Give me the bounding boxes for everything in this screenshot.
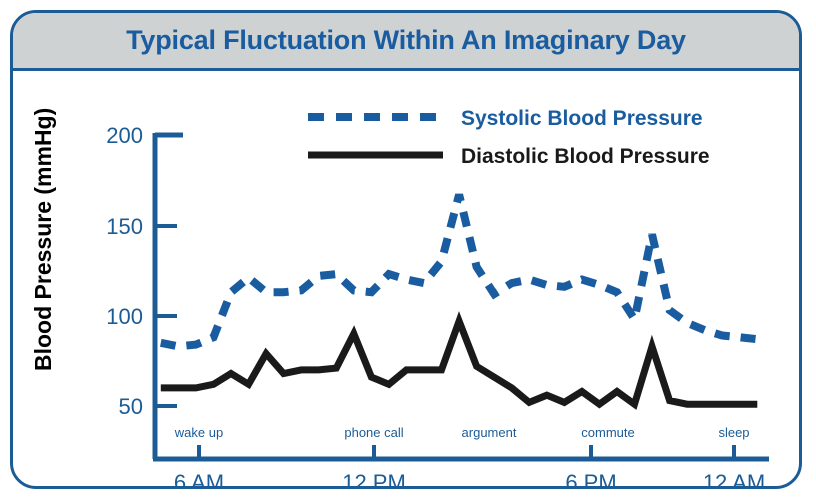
x-axis-ticks: 6 AM 12 PM 6 PM 12 AM: [174, 445, 765, 489]
series-group: [161, 195, 758, 405]
y-tick-label-100: 100: [106, 304, 143, 329]
x-tick-label-12am: 12 AM: [703, 470, 765, 489]
legend-label-diastolic: Diastolic Blood Pressure: [461, 145, 710, 168]
x-tick-label-12pm: 12 PM: [342, 470, 406, 489]
legend-item-systolic: Systolic Blood Pressure: [308, 107, 703, 130]
y-tick-label-200: 200: [106, 123, 143, 148]
annotation-phone-call: phone call: [344, 425, 403, 440]
event-annotations: wake up phone call argument commute slee…: [174, 425, 750, 440]
annotation-argument: argument: [462, 425, 517, 440]
annotation-commute: commute: [581, 425, 634, 440]
chart-header: Typical Fluctuation Within An Imaginary …: [13, 13, 799, 71]
y-tick-label-50: 50: [119, 394, 143, 419]
y-axis-label: Blood Pressure (mmHg): [30, 108, 56, 371]
legend-item-diastolic: Diastolic Blood Pressure: [308, 145, 710, 168]
y-tick-label-150: 150: [106, 214, 143, 239]
chart-plot-area: Systolic Blood Pressure Diastolic Blood …: [13, 71, 799, 489]
x-tick-label-6pm: 6 PM: [565, 470, 616, 489]
chart-card: Typical Fluctuation Within An Imaginary …: [10, 10, 802, 489]
series-line-diastolic: [161, 321, 758, 404]
chart-legend: Systolic Blood Pressure Diastolic Blood …: [308, 107, 710, 168]
x-tick-label-6am: 6 AM: [174, 470, 224, 489]
annotation-sleep: sleep: [718, 425, 749, 440]
y-axis-ticks: 200 150 100 50: [106, 123, 183, 419]
annotation-wake-up: wake up: [174, 425, 223, 440]
blood-pressure-line-chart: Systolic Blood Pressure Diastolic Blood …: [13, 71, 799, 489]
legend-label-systolic: Systolic Blood Pressure: [461, 107, 703, 130]
page-title: Typical Fluctuation Within An Imaginary …: [126, 25, 686, 56]
